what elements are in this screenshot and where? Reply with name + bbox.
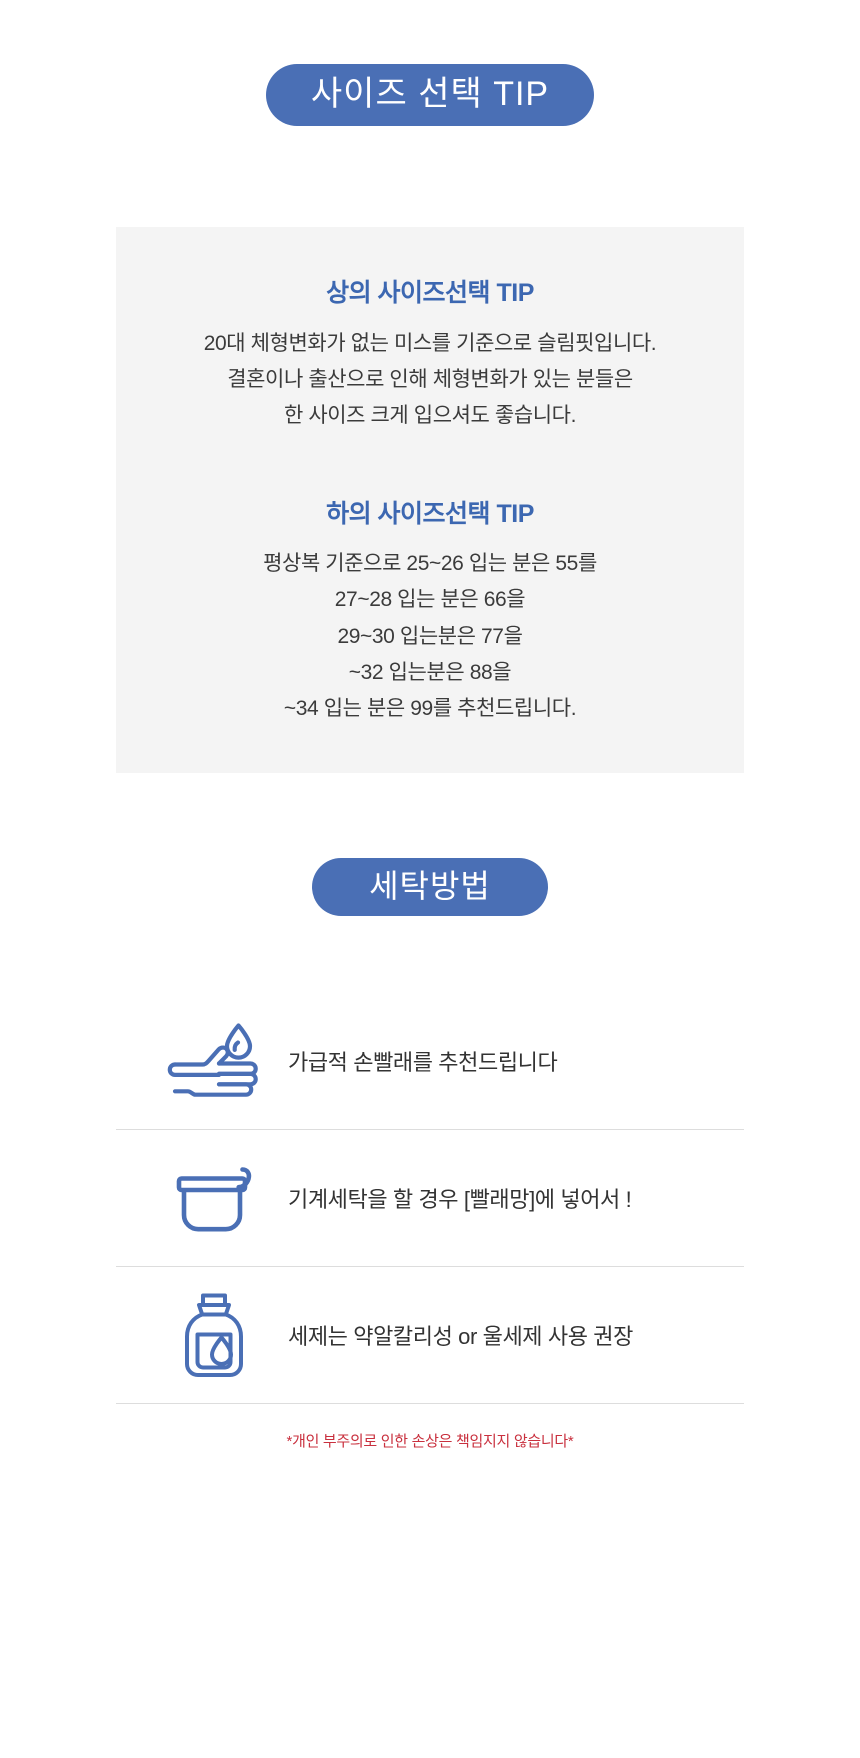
bottom-size-tip-line: 29~30 입는분은 77을 (126, 619, 734, 655)
care-row-text: 세제는 약알칼리성 or 울세제 사용 권장 (288, 1319, 633, 1351)
wash-basin-icon (158, 1156, 270, 1240)
top-size-tip-heading: 상의 사이즈선택 TIP (126, 277, 734, 310)
panel-block-spacer (126, 434, 734, 498)
size-tip-banner: 사이즈 선택 TIP (266, 64, 594, 126)
care-divider (116, 1403, 744, 1404)
wash-method-banner: 세탁방법 (312, 858, 548, 916)
top-size-tip-line: 20대 체형변화가 없는 미스를 기준으로 슬림핏입니다. (126, 326, 734, 362)
size-tip-banner-wrap: 사이즈 선택 TIP (0, 64, 860, 126)
size-tip-section: 사이즈 선택 TIP 상의 사이즈선택 TIP 20대 체형변화가 없는 미스를… (0, 64, 860, 773)
bottom-size-tip-line: 평상복 기준으로 25~26 입는 분은 55를 (126, 546, 734, 582)
size-tip-panel: 상의 사이즈선택 TIP 20대 체형변화가 없는 미스를 기준으로 슬림핏입니… (116, 227, 744, 773)
wash-method-banner-wrap: 세탁방법 (0, 858, 860, 916)
care-row: 가급적 손빨래를 추천드립니다 (116, 993, 744, 1129)
care-row: 세제는 약알칼리성 or 울세제 사용 권장 (116, 1267, 744, 1403)
hand-wash-icon (158, 1019, 270, 1103)
top-size-tip-line: 한 사이즈 크게 입으셔도 좋습니다. (126, 398, 734, 434)
bottom-size-tip-body: 평상복 기준으로 25~26 입는 분은 55를 27~28 입는 분은 66을… (126, 546, 734, 727)
top-size-tip-line: 결혼이나 출산으로 인해 체형변화가 있는 분들은 (126, 362, 734, 398)
wash-method-section: 세탁방법 가급적 손빨래를 추천드립니다 (0, 858, 860, 1451)
care-disclaimer: *개인 부주의로 인한 손상은 책임지지 않습니다* (116, 1430, 744, 1451)
top-size-tip-body: 20대 체형변화가 없는 미스를 기준으로 슬림핏입니다. 결혼이나 출산으로 … (126, 326, 734, 434)
care-instruction-list: 가급적 손빨래를 추천드립니다 기계세탁을 할 경우 [빨래망]에 넣어서 ! (116, 993, 744, 1451)
bottom-size-tip-heading: 하의 사이즈선택 TIP (126, 498, 734, 531)
care-row: 기계세탁을 할 경우 [빨래망]에 넣어서 ! (116, 1130, 744, 1266)
care-row-text: 기계세탁을 할 경우 [빨래망]에 넣어서 ! (288, 1182, 631, 1214)
detergent-bottle-icon (158, 1290, 270, 1380)
bottom-size-tip-line: 27~28 입는 분은 66을 (126, 582, 734, 618)
care-row-text: 가급적 손빨래를 추천드립니다 (288, 1045, 557, 1077)
bottom-size-tip-line: ~34 입는 분은 99를 추천드립니다. (126, 691, 734, 727)
bottom-size-tip-line: ~32 입는분은 88을 (126, 655, 734, 691)
